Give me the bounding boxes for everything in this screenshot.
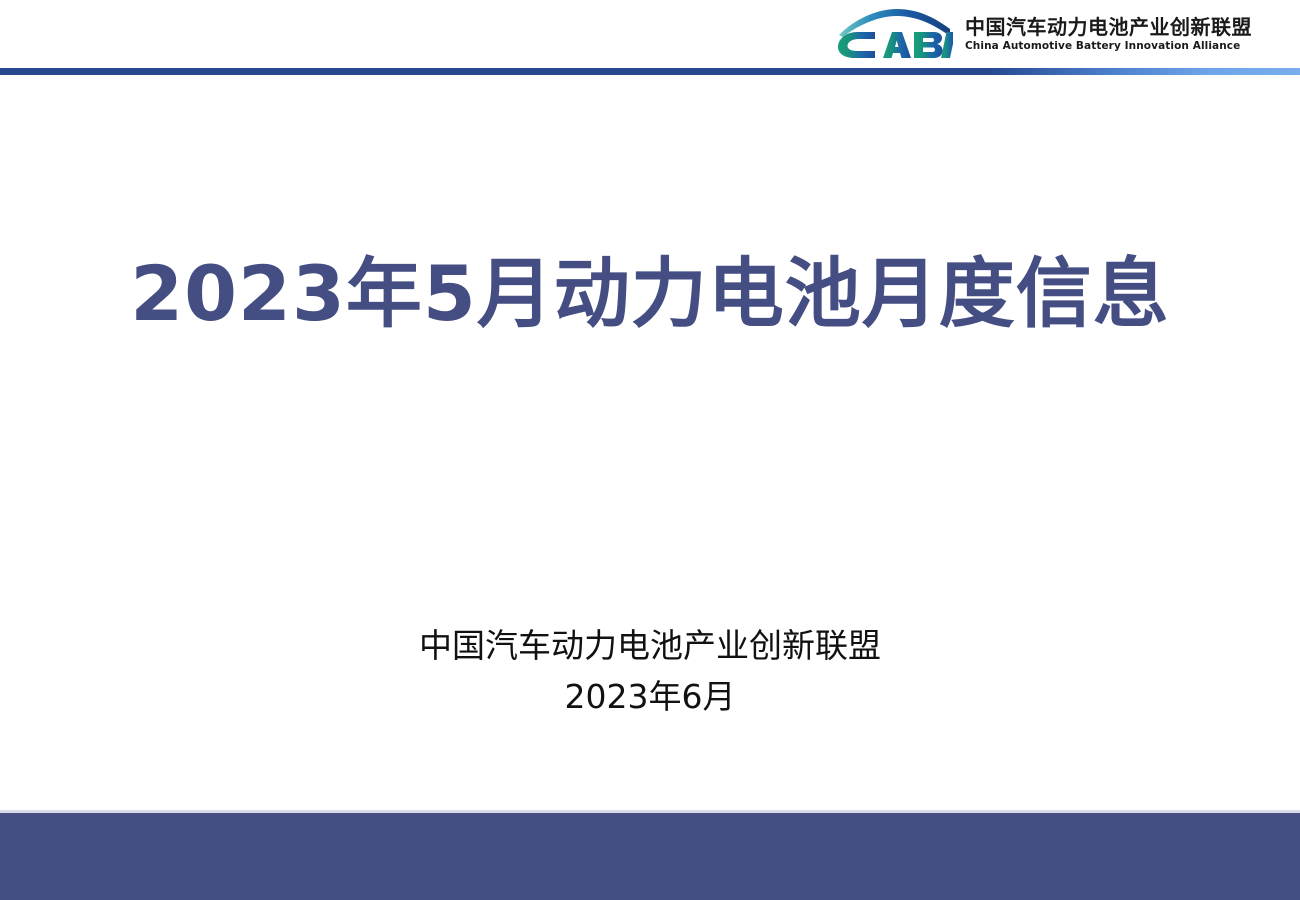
- slide-header: 中国汽车动力电池产业创新联盟 China Automotive Battery …: [0, 0, 1300, 68]
- alliance-logo-block: 中国汽车动力电池产业创新联盟 China Automotive Battery …: [831, 6, 1252, 60]
- slide-root: 中国汽车动力电池产业创新联盟 China Automotive Battery …: [0, 0, 1300, 900]
- slide-subtitle-block: 中国汽车动力电池产业创新联盟 2023年6月: [0, 620, 1300, 722]
- subtitle-organization: 中国汽车动力电池产业创新联盟: [0, 620, 1300, 671]
- alliance-name-en: China Automotive Battery Innovation Alli…: [965, 40, 1252, 54]
- cabia-car-logo-icon: [831, 6, 953, 60]
- footer-band: [0, 813, 1300, 900]
- alliance-name-block: 中国汽车动力电池产业创新联盟 China Automotive Battery …: [965, 12, 1252, 54]
- slide-body: 2023年5月动力电池月度信息 中国汽车动力电池产业创新联盟 2023年6月: [0, 75, 1300, 812]
- alliance-name-cn: 中国汽车动力电池产业创新联盟: [965, 16, 1252, 39]
- header-accent-rule: [0, 68, 1300, 75]
- subtitle-date: 2023年6月: [0, 671, 1300, 722]
- slide-title: 2023年5月动力电池月度信息: [0, 250, 1300, 337]
